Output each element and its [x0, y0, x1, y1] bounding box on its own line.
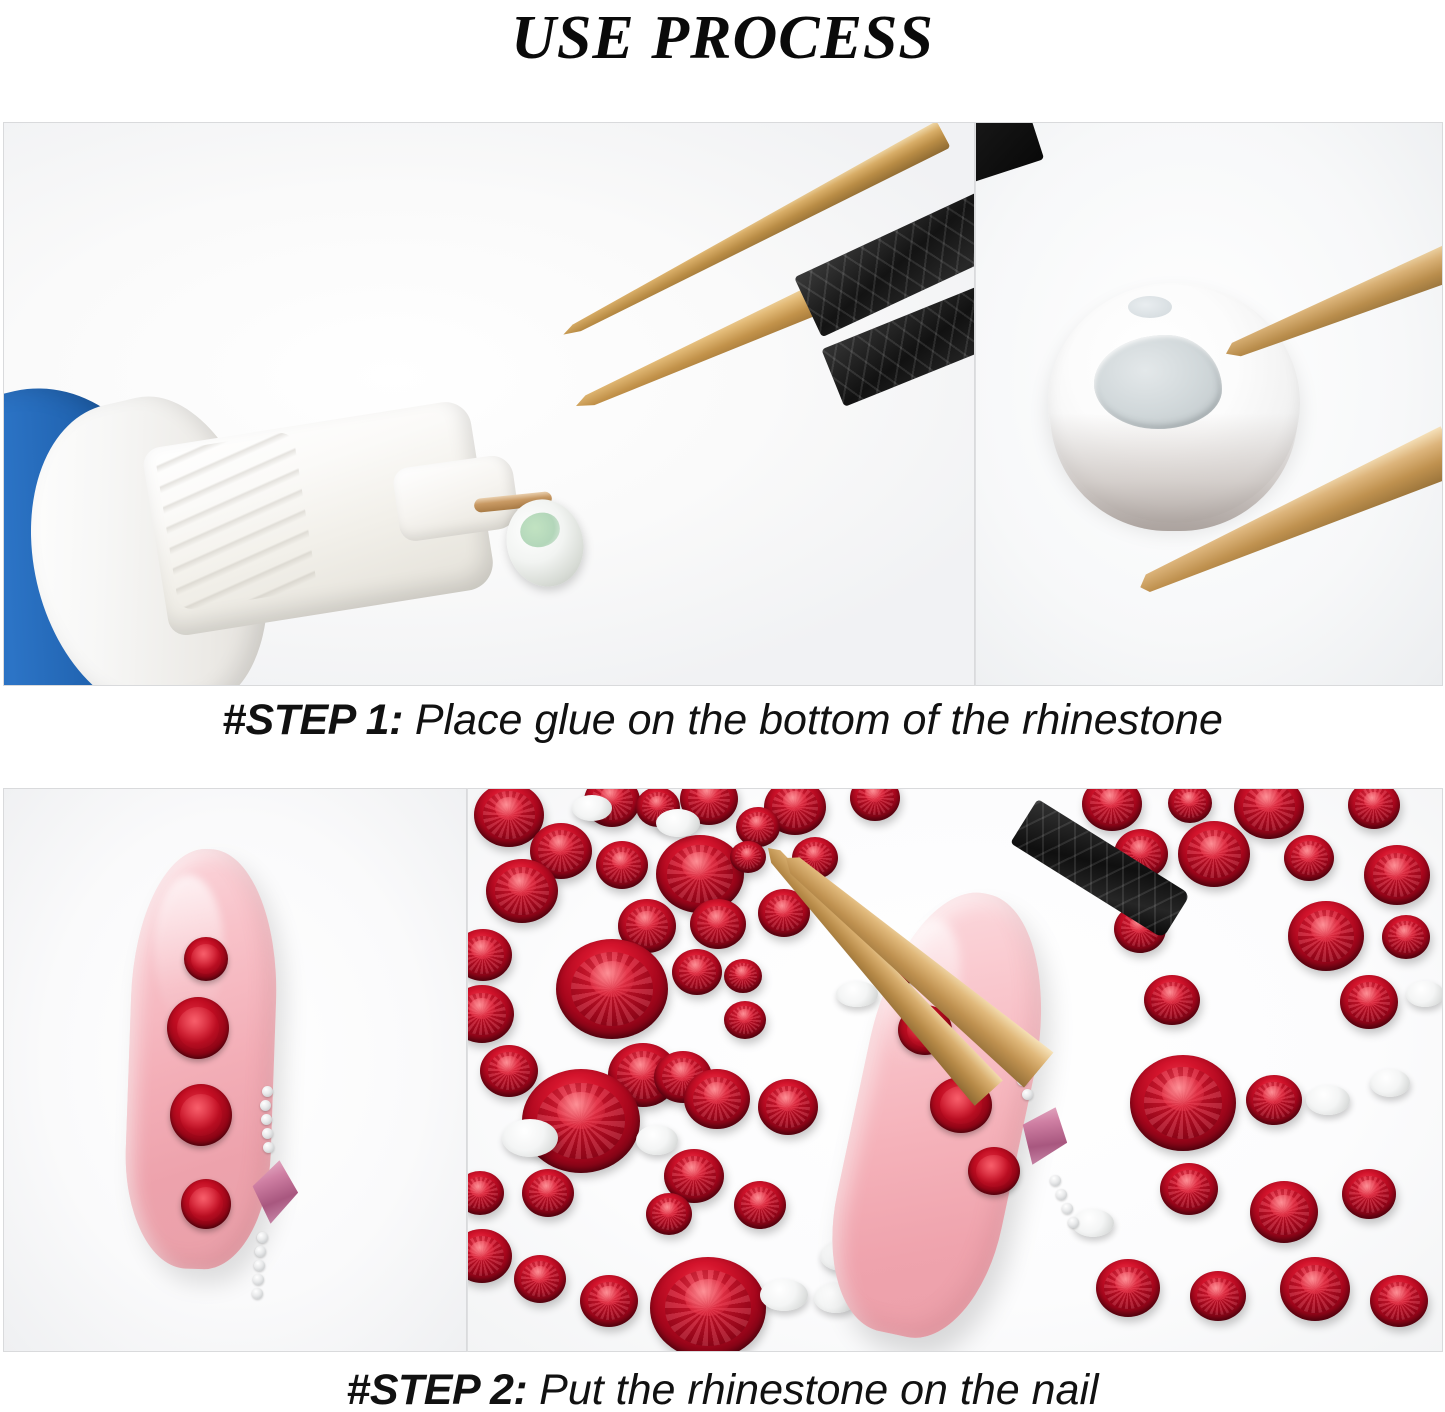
red-rhinestone — [646, 1193, 692, 1235]
red-rhinestone — [730, 841, 766, 873]
red-rhinestone — [734, 1181, 786, 1229]
red-rhinestone — [1284, 835, 1334, 881]
step-1-text: Place glue on the bottom of the rhinesto… — [403, 696, 1223, 744]
red-rhinestone — [690, 899, 746, 949]
step-2-text: Put the rhinestone on the nail — [527, 1366, 1098, 1412]
rhinestone-silver-back — [836, 981, 878, 1007]
silver-bead — [262, 1086, 273, 1097]
red-rhinestone — [596, 841, 648, 889]
red-rhinestone — [1340, 975, 1398, 1029]
rhinestone-silver-back — [1306, 1085, 1350, 1115]
red-rhinestone — [1280, 1257, 1350, 1321]
silver-bead — [257, 1232, 268, 1243]
red-rhinestone — [1364, 845, 1430, 905]
red-rhinestone — [684, 1069, 750, 1129]
red-rhinestone — [758, 1079, 818, 1135]
silver-bead — [252, 1288, 263, 1299]
glue-blob — [1094, 335, 1222, 429]
red-rhinestone-small — [184, 937, 228, 981]
page-title: USE PROCESS — [0, 2, 1445, 74]
use-process-infographic: USE PROCESS — [0, 0, 1445, 1412]
silver-bead — [261, 1114, 272, 1125]
rhinestone-silver-back — [636, 1125, 678, 1155]
silver-bead — [253, 1274, 264, 1285]
red-rhinestone — [724, 959, 762, 993]
red-rhinestone — [522, 1169, 574, 1217]
step-1-image-row — [3, 122, 1443, 686]
silver-bead — [1068, 1217, 1079, 1228]
red-rhinestone — [486, 859, 558, 923]
rhinestone-silver-back — [572, 795, 612, 821]
red-rhinestone-large — [1288, 901, 1364, 971]
silver-bead — [262, 1128, 273, 1139]
step-1-caption: #STEP 1: Place glue on the bottom of the… — [0, 696, 1445, 745]
red-rhinestone-xl — [556, 939, 668, 1039]
step-2-image-row — [3, 788, 1443, 1352]
rhinestone-silver-back — [1406, 981, 1443, 1007]
rhinestone-silver-back — [1370, 1069, 1410, 1097]
red-rhinestone — [1342, 1169, 1396, 1219]
step-2-label: #STEP 2: — [346, 1366, 527, 1412]
glue-bottle-nozzle-threads — [154, 431, 317, 611]
red-rhinestone — [514, 1255, 566, 1303]
rhinestone-silver-back — [502, 1119, 558, 1157]
rhinestone-silver-back — [760, 1279, 808, 1311]
red-rhinestone — [1160, 1163, 1218, 1215]
red-rhinestone — [672, 949, 722, 995]
silver-bead — [260, 1100, 271, 1111]
red-rhinestone-medium — [181, 1179, 231, 1229]
silver-bead — [1022, 1089, 1033, 1100]
red-rhinestone — [580, 1275, 638, 1327]
silver-bead — [1050, 1175, 1061, 1186]
silver-bead — [1056, 1189, 1067, 1200]
red-rhinestone-on-nail — [968, 1147, 1020, 1195]
red-rhinestone-large — [167, 997, 229, 1059]
rhinestone-back-closeup-photo — [975, 122, 1443, 686]
red-rhinestone — [1096, 1259, 1160, 1317]
glue-blob-small — [1128, 296, 1172, 318]
step-1-label: #STEP 1: — [222, 696, 403, 744]
red-rhinestone — [1190, 1271, 1246, 1321]
red-rhinestone — [1144, 975, 1200, 1025]
red-rhinestone — [1178, 821, 1250, 887]
red-rhinestone-large — [170, 1084, 232, 1146]
silver-bead — [1062, 1203, 1073, 1214]
red-rhinestone — [1250, 1181, 1318, 1243]
scattered-rhinestones-photo — [467, 788, 1443, 1352]
rhinestone-silver-back — [656, 809, 700, 837]
red-rhinestone-xl — [1130, 1055, 1236, 1151]
red-rhinestone — [480, 1045, 538, 1097]
red-rhinestone-xl — [650, 1257, 766, 1352]
red-rhinestone — [1382, 915, 1430, 959]
silver-bead — [263, 1142, 274, 1153]
finished-nail-photo — [3, 788, 467, 1352]
red-rhinestone — [1370, 1275, 1428, 1327]
red-rhinestone — [724, 1001, 766, 1039]
red-rhinestone — [1246, 1075, 1302, 1125]
silver-bead — [255, 1246, 266, 1257]
silver-bead — [254, 1260, 265, 1271]
glue-bottle-and-tweezers-photo — [3, 122, 975, 686]
step-2-caption: #STEP 2: Put the rhinestone on the nail — [0, 1366, 1445, 1412]
